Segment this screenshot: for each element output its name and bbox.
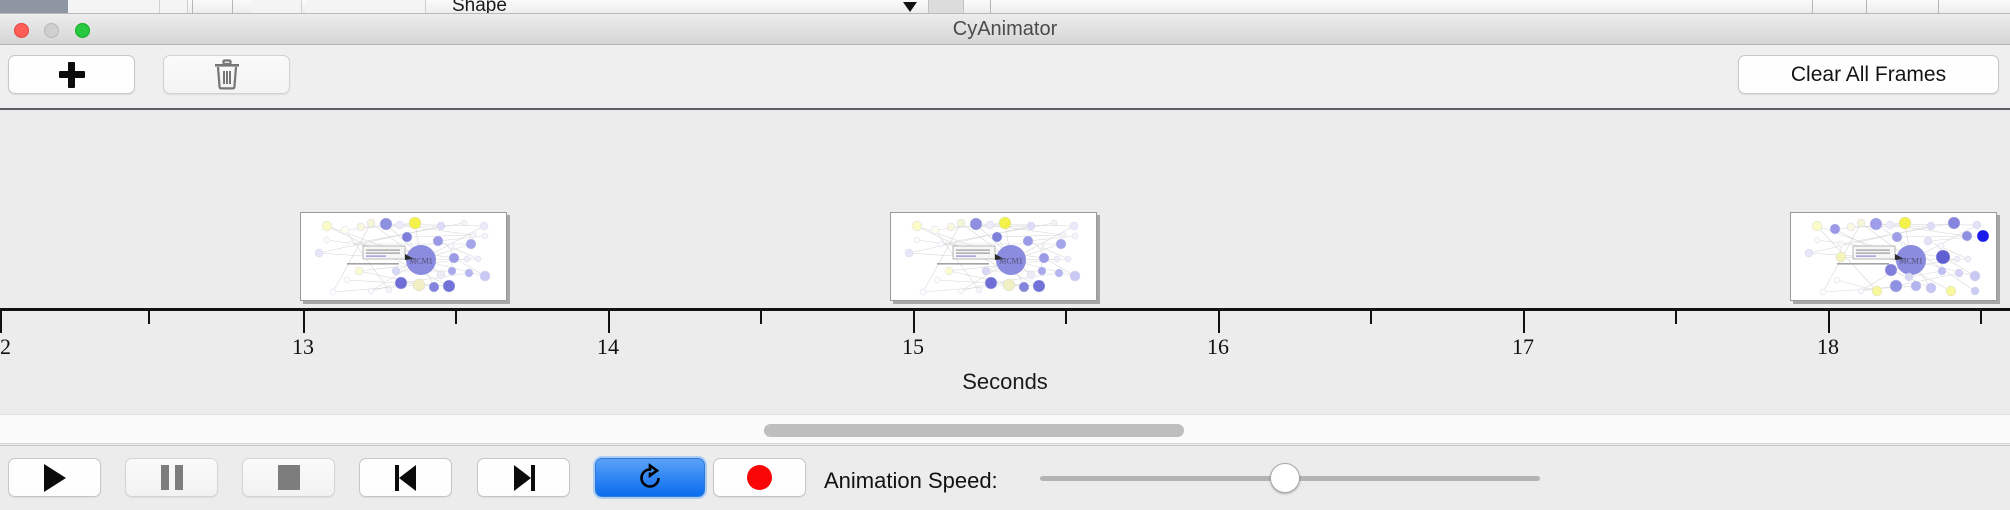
next-frame-button[interactable]	[477, 458, 570, 497]
animation-speed-label: Animation Speed:	[824, 468, 998, 494]
horizontal-scrollbar[interactable]	[0, 414, 2010, 444]
clear-all-frames-button[interactable]: Clear All Frames	[1738, 55, 1999, 94]
trash-icon	[213, 59, 241, 91]
add-frame-button[interactable]	[8, 55, 135, 94]
svg-text:MCM1: MCM1	[999, 257, 1023, 266]
frame-thumbnail[interactable]: MCM1	[890, 212, 1097, 301]
background-window-dark-panel	[0, 0, 68, 14]
axis-tick-minor	[1065, 311, 1067, 324]
background-tab-edge	[1812, 0, 1813, 14]
background-cursor-arrow-icon	[903, 2, 917, 12]
title-bar: CyAnimator	[0, 14, 2010, 45]
axis-tick-major	[913, 311, 915, 333]
stop-button[interactable]	[242, 458, 335, 497]
axis-tick-major	[303, 311, 305, 333]
cyanimator-window: Shape CyAnimator Clear Al	[0, 0, 2010, 510]
record-button[interactable]	[713, 458, 806, 497]
stop-icon	[278, 465, 300, 490]
delete-frame-button[interactable]	[163, 55, 290, 94]
clear-all-frames-label: Clear All Frames	[1791, 63, 1946, 87]
plus-icon	[59, 62, 85, 88]
svg-text:MCM1: MCM1	[409, 257, 433, 266]
background-notch	[928, 0, 964, 14]
timeline-axis: 12131415161718 Seconds	[0, 308, 2010, 414]
slider-thumb[interactable]	[1270, 463, 1300, 493]
axis-tick-label: 14	[597, 334, 619, 360]
pause-button[interactable]	[125, 458, 218, 497]
horizontal-scrollbar-thumb[interactable]	[764, 424, 1184, 437]
background-chip	[68, 0, 160, 14]
frame-thumbnail[interactable]: MCM1	[300, 212, 507, 301]
skip-next-icon	[513, 465, 535, 491]
toolbar: Clear All Frames	[0, 45, 2010, 110]
axis-tick-minor	[455, 311, 457, 324]
axis-tick-major	[1523, 311, 1525, 333]
axis-tick-major	[1828, 311, 1830, 333]
frames-timeline-area[interactable]: MCM1MCM1MCM1	[0, 112, 2010, 308]
axis-tick-minor	[1980, 311, 1982, 324]
skip-previous-icon	[395, 465, 417, 491]
axis-tick-major	[608, 311, 610, 333]
axis-tick-major	[1218, 311, 1220, 333]
loop-button[interactable]	[595, 458, 705, 497]
axis-tick-label: 12	[0, 334, 11, 360]
play-button[interactable]	[8, 458, 101, 497]
axis-tick-label: 18	[1817, 334, 1839, 360]
axis-tick-label: 17	[1512, 334, 1534, 360]
animation-speed-slider[interactable]	[1040, 476, 1540, 482]
frame-thumbnail[interactable]: MCM1	[1790, 212, 1997, 301]
loop-icon	[635, 463, 665, 493]
background-chip	[160, 0, 188, 14]
background-window-label: Shape	[452, 0, 507, 14]
background-tab-edge	[1938, 0, 1939, 14]
previous-frame-button[interactable]	[359, 458, 452, 497]
playback-controls-bar: Animation Speed:	[0, 445, 2010, 510]
background-chip	[252, 0, 302, 14]
pause-icon	[161, 465, 183, 490]
axis-title: Seconds	[0, 369, 2010, 395]
axis-tick-minor	[148, 311, 150, 324]
background-tab-edge	[192, 0, 193, 14]
axis-tick-minor	[1370, 311, 1372, 324]
axis-tick-minor	[760, 311, 762, 324]
window-title: CyAnimator	[0, 18, 2010, 41]
background-tab-edge	[232, 0, 233, 14]
record-icon	[747, 465, 772, 490]
background-tab-edge	[1866, 0, 1867, 14]
axis-tick-label: 16	[1207, 334, 1229, 360]
axis-tick-label: 13	[292, 334, 314, 360]
background-window-strip: Shape	[0, 0, 2010, 14]
svg-text:MCM1: MCM1	[1899, 257, 1923, 266]
axis-tick-label: 15	[902, 334, 924, 360]
axis-tick-major	[0, 311, 2, 333]
background-tab-edge	[990, 0, 991, 14]
axis-tick-minor	[1675, 311, 1677, 324]
background-chip	[306, 0, 426, 14]
play-icon	[44, 464, 66, 492]
axis-line	[0, 308, 2010, 311]
